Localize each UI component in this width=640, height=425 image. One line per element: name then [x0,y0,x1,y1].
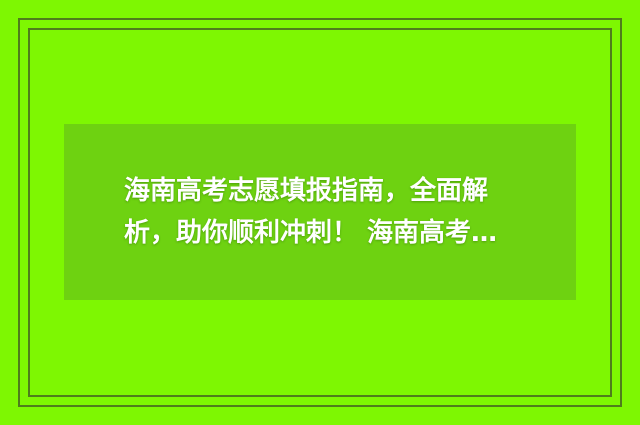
headline-panel: 海南高考志愿填报指南，全面解析，助你顺利冲刺！ 海南高考… [64,124,576,300]
banner-canvas: 海南高考志愿填报指南，全面解析，助你顺利冲刺！ 海南高考… [0,0,640,425]
headline-text: 海南高考志愿填报指南，全面解析，助你顺利冲刺！ 海南高考… [124,170,516,254]
